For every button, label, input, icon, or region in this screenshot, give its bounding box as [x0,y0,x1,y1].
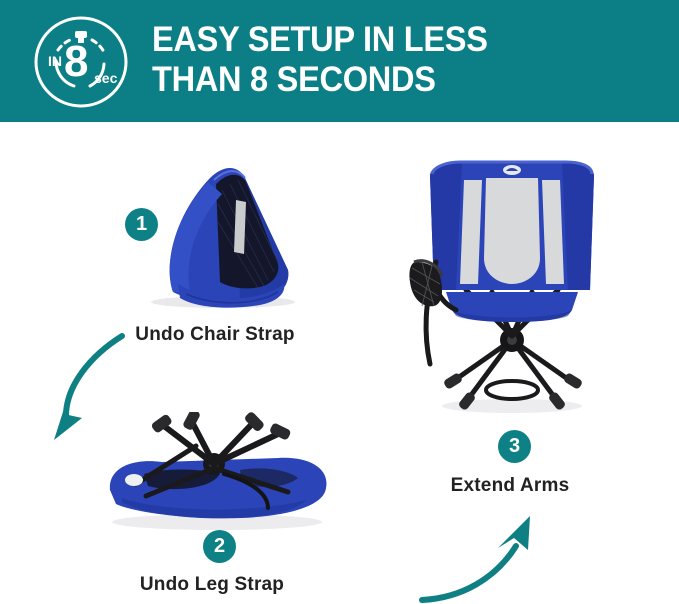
step-3: 3 Extend Arms [390,150,630,480]
step-2-label: Undo Leg Strap [72,574,352,596]
step-2-number-badge: 2 [203,530,236,563]
header-title-line1: EASY SETUP IN LESS [152,20,617,60]
stopwatch-8-sec-icon: IN 8 sec [28,14,134,110]
assembled-chair-image [400,150,620,420]
step-3-number-badge: 3 [498,430,531,463]
header-title: EASY SETUP IN LESS THAN 8 SECONDS [152,20,652,100]
steps-container: 1 Undo Chair Strap [0,122,679,604]
icon-number-text: 8 [64,37,88,86]
infographic-page: IN 8 sec EASY SETUP IN LESS THAN 8 SECON… [0,0,679,604]
arrow-step2-to-step3 [418,512,573,604]
icon-prefix-text: IN [48,53,62,69]
chair-unfolded-flat-image [92,412,342,532]
step-1: 1 Undo Chair Strap [100,142,330,362]
header-banner: IN 8 sec EASY SETUP IN LESS THAN 8 SECON… [0,0,679,122]
step-3-label: Extend Arms [390,475,630,497]
icon-suffix-text: sec [94,70,118,86]
step-1-number-badge: 1 [125,208,158,241]
header-title-line2: THAN 8 SECONDS [152,60,617,100]
step-2: 2 Undo Leg Strap [72,412,352,602]
